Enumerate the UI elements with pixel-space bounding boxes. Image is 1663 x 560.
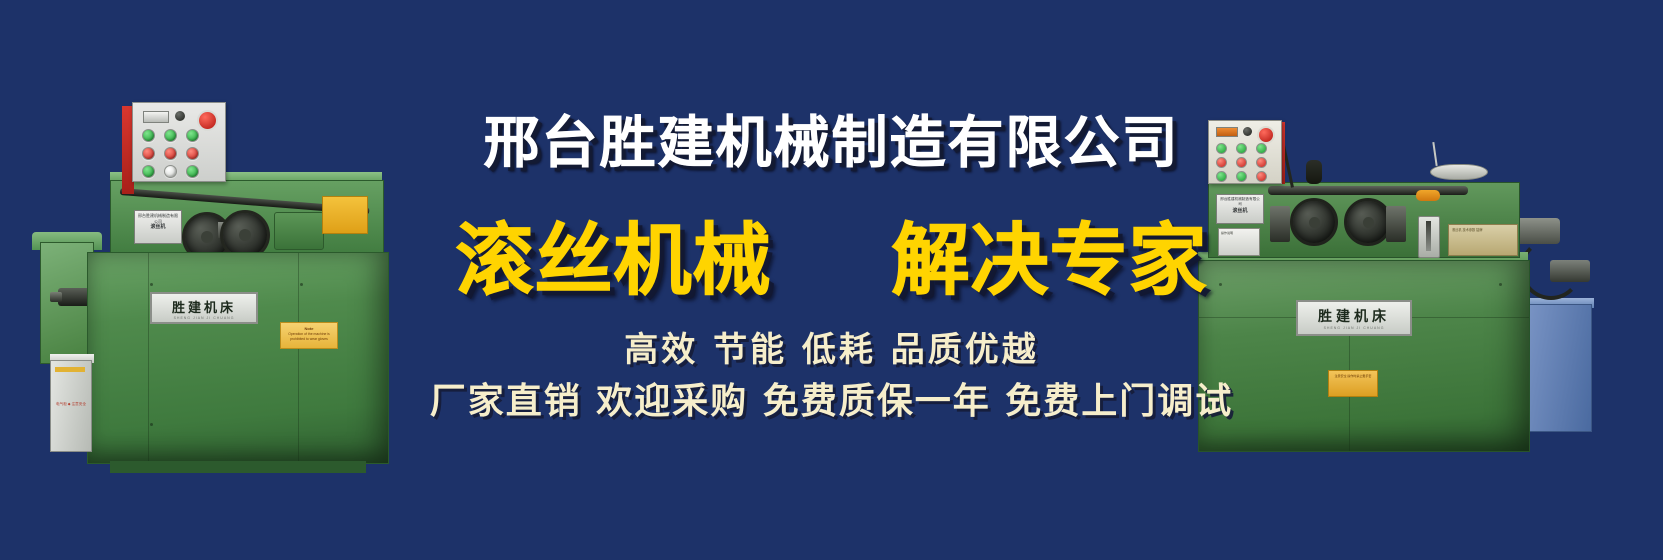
right-warning-text: 注意安全 操作时禁止戴手套 (1335, 374, 1372, 378)
right-machine-cable-connector (1306, 160, 1322, 184)
bolt (300, 283, 303, 286)
indicator-lamp-green-icon (1216, 171, 1227, 182)
promotional-banner: 邢台胜建机械制造有限公司 滚丝机 (0, 0, 1663, 560)
left-machine-electrical-cabinet: 电气柜 ◆ 注意安全 (50, 360, 92, 452)
indicator-lamp-white-icon (164, 165, 177, 178)
left-panel-lamp-row-1 (142, 129, 199, 142)
right-panel-lamp-row-2 (1216, 157, 1267, 168)
left-cabinet-label: 电气柜 ◆ 注意安全 (55, 401, 87, 409)
right-machine-slide-1 (1270, 206, 1290, 242)
bolt (150, 283, 153, 286)
panel-seam (298, 253, 299, 463)
indicator-lamp-green-icon (1256, 143, 1267, 154)
right-machine-clamp (1550, 260, 1590, 282)
panel-seam (148, 253, 149, 463)
selector-knob-icon (1243, 127, 1252, 136)
right-machine-warning-label: 注意安全 操作时禁止戴手套 (1328, 370, 1378, 397)
left-warning-text: Operation of the machine is prohibited t… (288, 332, 329, 341)
indicator-lamp-green-icon (186, 129, 199, 142)
slogan-left: 滚丝机械 (455, 198, 771, 310)
bolt (150, 423, 153, 426)
left-nameplate-pinyin: SHENG JIAN JI CHUANG (174, 316, 235, 320)
indicator-lamp-green-icon (1236, 143, 1247, 154)
indicator-lamp-green-icon (1216, 143, 1227, 154)
left-machine-yellow-spec-label (322, 196, 368, 234)
left-machine-brand-nameplate: 胜建机床 SHENG JIAN JI CHUANG (150, 292, 258, 324)
bolt (1499, 283, 1502, 286)
indicator-lamp-green-icon (142, 129, 155, 142)
right-machine-brand-nameplate: 胜建机床 SHENG JIAN JI CHUANG (1296, 300, 1412, 336)
indicator-lamp-red-icon (186, 147, 199, 160)
right-secondary-label-text: 操作说明 (1221, 231, 1233, 235)
left-nameplate-cn: 胜建机床 (172, 297, 236, 316)
indicator-lamp-red-icon (142, 147, 155, 160)
machine-photo-right: 邢台胜建机械制造有限公司 滚丝机 操作说明 滚丝机 技术参数 铭牌 (1168, 120, 1663, 460)
left-machine-base-body (87, 252, 389, 464)
indicator-lamp-red-icon (1236, 157, 1247, 168)
right-machine-spec-plate: 邢台胜建机械制造有限公司 滚丝机 (1216, 194, 1264, 224)
indicator-lamp-green-icon (1236, 171, 1247, 182)
emergency-stop-icon (1257, 126, 1275, 144)
right-panel-lamp-row-3 (1216, 171, 1267, 182)
left-spec-plate-title: 滚丝机 (137, 224, 179, 231)
right-machine-roller-head-1 (1290, 198, 1338, 246)
right-machine-base-body (1198, 260, 1530, 452)
right-machine-secondary-label: 操作说明 (1218, 228, 1260, 256)
left-machine-control-panel (132, 102, 226, 182)
indicator-lamp-green-icon (186, 165, 199, 178)
left-machine-spec-plate: 邢台胜建机械制造有限公司 滚丝机 (134, 210, 182, 244)
indicator-lamp-red-icon (1216, 157, 1227, 168)
ammeter-icon (143, 111, 169, 123)
indicator-lamp-red-icon (164, 147, 177, 160)
indicator-lamp-green-icon (164, 129, 177, 142)
ammeter-icon (1216, 127, 1238, 137)
indicator-lamp-green-icon (142, 165, 155, 178)
right-spec-plate-sub: 邢台胜建机械制造有限公司 (1220, 197, 1260, 206)
left-panel-lamp-row-2 (142, 147, 199, 160)
right-panel-lamp-row-1 (1216, 143, 1267, 154)
machine-photo-left: 邢台胜建机械制造有限公司 滚丝机 (22, 92, 422, 472)
right-machine-terminal-block (1416, 190, 1440, 201)
left-panel-lamp-row-3 (142, 165, 199, 178)
right-machine-gauge (1418, 216, 1440, 258)
right-spec-plate-title: 滚丝机 (1219, 208, 1261, 216)
right-machine-control-panel (1208, 120, 1282, 184)
right-nameplate-pinyin: SHENG JIAN JI CHUANG (1324, 326, 1385, 330)
left-machine-warning-label: Note Operation of the machine is prohibi… (280, 322, 338, 349)
bolt (1219, 283, 1222, 286)
left-machine-motor-housing (274, 212, 324, 250)
right-machine-tool-tray (1430, 164, 1488, 180)
slogan-right: 解决专家 (892, 198, 1208, 310)
cabinet-yellow-strip (55, 367, 85, 372)
right-machine-antenna (1432, 142, 1437, 166)
right-machine-roller-head-2 (1344, 198, 1392, 246)
right-machine-brass-plate: 滚丝机 技术参数 铭牌 (1448, 224, 1518, 256)
selector-knob-icon (175, 111, 185, 121)
right-nameplate-cn: 胜建机床 (1318, 306, 1390, 326)
right-machine-slide-2 (1386, 206, 1406, 242)
left-machine-base-notch (263, 461, 307, 473)
right-brass-plate-text: 滚丝机 技术参数 铭牌 (1452, 228, 1482, 232)
left-spec-plate-sub: 邢台胜建机械制造有限公司 (138, 213, 178, 224)
indicator-lamp-red-icon (1256, 157, 1267, 168)
emergency-stop-icon (197, 110, 218, 131)
indicator-lamp-red-icon (1256, 171, 1267, 182)
